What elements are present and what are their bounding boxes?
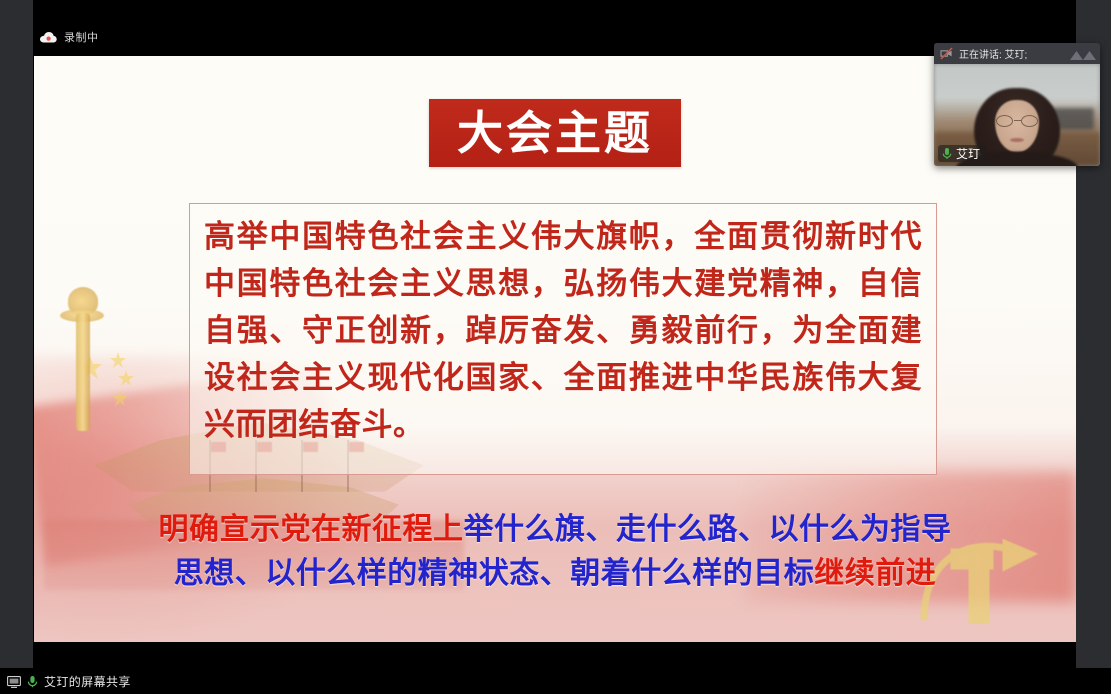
recording-indicator[interactable]: 录制中 — [33, 26, 99, 48]
screen-share-icon — [7, 675, 21, 687]
double-chevron-icon[interactable] — [1070, 48, 1096, 60]
slide-title-banner: 大会主题 — [429, 99, 681, 167]
microphone-icon — [27, 675, 38, 688]
participant-name: 艾玎 — [956, 148, 980, 160]
tagline-line1-red: 明确宣示党在新征程上 — [159, 512, 464, 547]
cloud-recording-icon — [40, 32, 57, 43]
video-panel-header: 正在讲话: 艾玎; — [934, 43, 1100, 64]
video-off-icon[interactable] — [940, 47, 953, 60]
speaking-status-label: 正在讲话: 艾玎; — [959, 46, 1064, 61]
microphone-on-icon — [942, 147, 952, 160]
tagline-line2-red: 继续前进 — [814, 556, 936, 591]
page-title: 大会主题 — [457, 110, 653, 156]
tagline-line-1: 明确宣示党在新征程上举什么旗、走什么路、以什么为指导 — [34, 508, 1076, 552]
tagline-line1-blue: 举什么旗、走什么路、以什么为指导 — [464, 512, 952, 547]
participant-avatar — [974, 88, 1060, 166]
meeting-window: 录制中 — [0, 0, 1111, 694]
screen-share-label: 艾玎的屏幕共享 — [44, 673, 131, 690]
participant-video-feed[interactable]: 艾玎 — [934, 64, 1100, 166]
slide-body-box: 高举中国特色社会主义伟大旗帜，全面贯彻新时代中国特色社会主义思想，弘扬伟大建党精… — [189, 203, 937, 475]
participant-name-badge: 艾玎 — [938, 145, 986, 162]
tagline-line-2: 思想、以什么样的精神状态、朝着什么样的目标继续前进 — [34, 552, 1076, 596]
slide-body-text: 高举中国特色社会主义伟大旗帜，全面贯彻新时代中国特色社会主义思想，弘扬伟大建党精… — [204, 214, 922, 450]
tagline-line2-blue: 思想、以什么样的精神状态、朝着什么样的目标 — [174, 556, 815, 591]
screen-share-status-bar: 艾玎的屏幕共享 — [0, 668, 1111, 694]
slide-content: 大会主题 高举中国特色社会主义伟大旗帜，全面贯彻新时代中国特色社会主义思想，弘扬… — [34, 56, 1076, 642]
window-left-gutter — [0, 0, 33, 694]
slide-tagline: 明确宣示党在新征程上举什么旗、走什么路、以什么为指导 思想、以什么样的精神状态、… — [34, 508, 1076, 595]
recording-label: 录制中 — [64, 29, 99, 45]
participant-video-panel[interactable]: 正在讲话: 艾玎; — [934, 43, 1100, 166]
shared-screen-slide: 大会主题 高举中国特色社会主义伟大旗帜，全面贯彻新时代中国特色社会主义思想，弘扬… — [34, 56, 1076, 642]
